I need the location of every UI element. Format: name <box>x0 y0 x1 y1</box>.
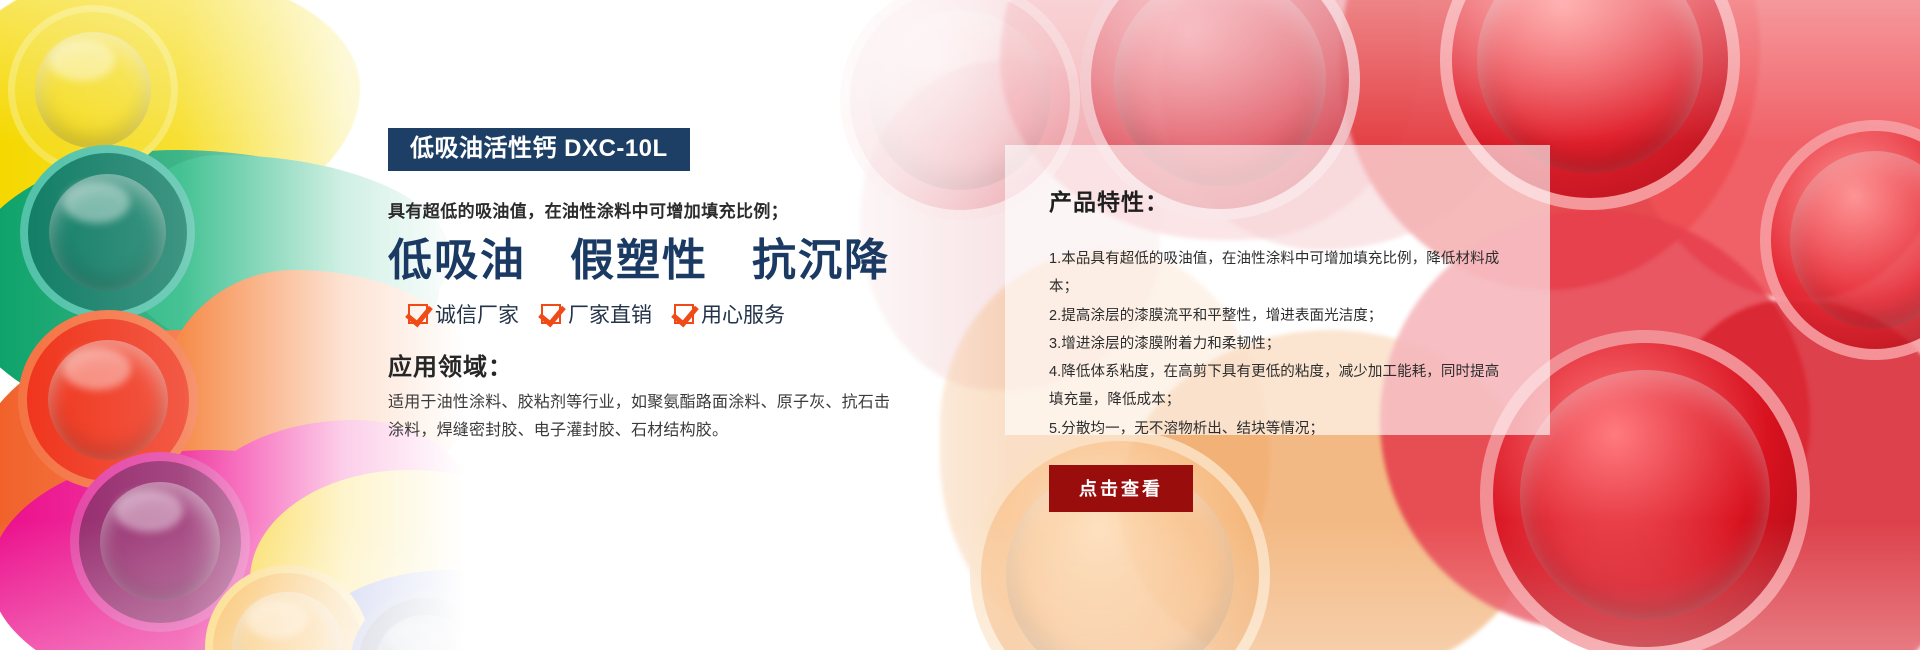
check-box-icon <box>541 304 561 324</box>
application-heading: 应用领域： <box>388 347 948 382</box>
orange-paint-pot <box>205 565 370 650</box>
red-wash-6 <box>1640 300 1920 650</box>
red-paint-pot <box>18 310 198 490</box>
yellow-brush-stroke-2 <box>250 470 580 650</box>
product-features-panel: 产品特性： 1.本品具有超低的吸油值，在油性涂料中可增加填充比例，降低材料成本；… <box>1005 145 1550 435</box>
check-box-icon <box>408 304 428 324</box>
features-panel-heading: 产品特性： <box>1049 183 1506 217</box>
check-box-icon <box>674 304 694 324</box>
yellow-paint-pot <box>8 5 178 175</box>
teal-paint-pot <box>20 145 195 320</box>
trust-badge-honest-manufacturer: 诚信厂家 <box>408 299 519 329</box>
orange-brush-stroke <box>0 330 390 620</box>
application-description: 适用于油性涂料、胶粘剂等行业，如聚氨酯路面涂料、原子灰、抗石击涂料，焊缝密封胶、… <box>388 389 893 445</box>
blue-brush-stroke <box>300 570 600 650</box>
keyword-low-oil-absorption: 低吸油 <box>388 236 526 285</box>
navy-paint-pot <box>350 590 500 650</box>
product-lead-text: 具有超低的吸油值，在油性涂料中可增加填充比例； <box>388 197 948 222</box>
red-wash-4 <box>1620 0 1920 300</box>
trust-badge-label: 诚信厂家 <box>435 299 519 329</box>
lime-brush-stroke <box>470 560 620 650</box>
keyword-pseudoplasticity: 假塑性 <box>570 236 708 285</box>
magenta-brush-stroke-2 <box>190 420 490 640</box>
trust-badge-label: 厂家直销 <box>568 299 652 329</box>
feature-item: 4.降低体系粘度，在高剪下具有更低的粘度，减少加工能耗，同时提高填充量，降低成本… <box>1049 358 1506 415</box>
left-content-block: 低吸油活性钙 DXC-10L 具有超低的吸油值，在油性涂料中可增加填充比例； 低… <box>388 128 948 445</box>
trust-badge-factory-direct: 厂家直销 <box>541 299 652 329</box>
magenta-brush-stroke <box>0 450 430 650</box>
product-title-tag: 低吸油活性钙 DXC-10L <box>388 128 690 171</box>
red-paint-ring <box>1760 120 1920 360</box>
trust-badge-row: 诚信厂家 厂家直销 用心服务 <box>388 299 948 329</box>
cream-paint-ring <box>970 430 1270 650</box>
feature-item: 5.分散均一，无不溶物析出、结块等情况； <box>1049 415 1506 443</box>
product-banner: 低吸油活性钙 DXC-10L 具有超低的吸油值，在油性涂料中可增加填充比例； 低… <box>0 0 1920 650</box>
feature-item: 1.本品具有超低的吸油值，在油性涂料中可增加填充比例，降低材料成本； <box>1049 245 1506 302</box>
trust-badge-label: 用心服务 <box>701 299 785 329</box>
keyword-anti-settling: 抗沉降 <box>752 236 890 285</box>
click-to-view-button[interactable]: 点击查看 <box>1049 465 1193 512</box>
feature-item: 2.提高涂层的漆膜流平和平整性，增进表面光洁度； <box>1049 302 1506 330</box>
yellow-brush-stroke <box>0 0 360 240</box>
trust-badge-attentive-service: 用心服务 <box>674 299 785 329</box>
features-list: 1.本品具有超低的吸油值，在油性涂料中可增加填充比例，降低材料成本； 2.提高涂… <box>1049 245 1506 443</box>
purple-paint-pot <box>70 452 250 632</box>
top-bottom-fade-overlay <box>0 0 1920 650</box>
keyword-row: 低吸油 假塑性 抗沉降 <box>388 236 948 285</box>
green-brush-stroke <box>0 150 440 430</box>
feature-item: 3.增进涂层的漆膜附着力和柔韧性； <box>1049 330 1506 358</box>
